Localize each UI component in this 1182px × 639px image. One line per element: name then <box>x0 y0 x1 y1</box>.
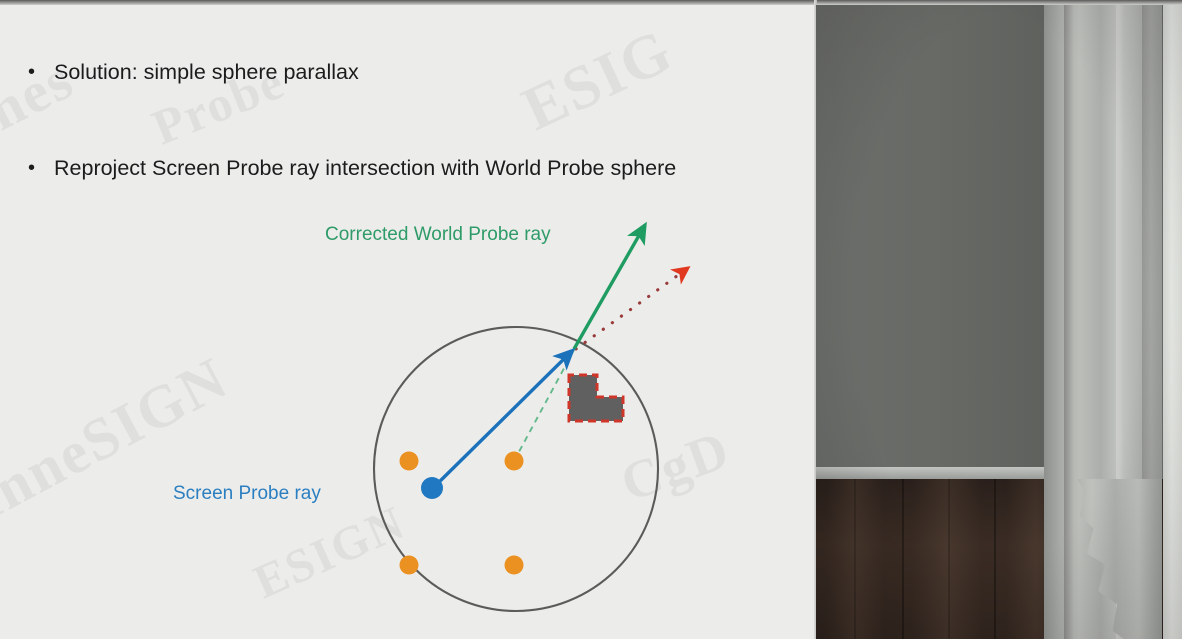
original-world-probe-ray <box>576 268 688 349</box>
world-probe-ray-dashed <box>514 348 575 461</box>
world-probe-dot <box>400 556 419 575</box>
room-baseboard <box>816 467 1052 479</box>
world-probe-dot <box>505 556 524 575</box>
sphere-parallax-diagram <box>0 5 816 639</box>
room-wall-left <box>816 5 1056 475</box>
corrected-world-probe-ray-label: Corrected World Probe ray <box>325 224 551 246</box>
curtain-fold <box>1064 5 1074 639</box>
presentation-slide: ines Probe ESIG InneSIGN CgD ESIGN • Sol… <box>0 5 816 639</box>
screen-probe-origin-dot <box>421 477 443 499</box>
presenter-camera-view <box>816 5 1182 639</box>
screen-probe-ray-label: Screen Probe ray <box>173 483 321 505</box>
screen-recording-frame: ines Probe ESIG InneSIGN CgD ESIGN • Sol… <box>0 0 1182 639</box>
corrected-world-probe-ray <box>574 225 645 349</box>
world-probe-dot <box>400 452 419 471</box>
occluder-geometry <box>569 375 623 421</box>
screen-probe-ray <box>433 351 572 488</box>
world-probe-dot <box>505 452 524 471</box>
room-far-wall-strip <box>1163 5 1182 639</box>
